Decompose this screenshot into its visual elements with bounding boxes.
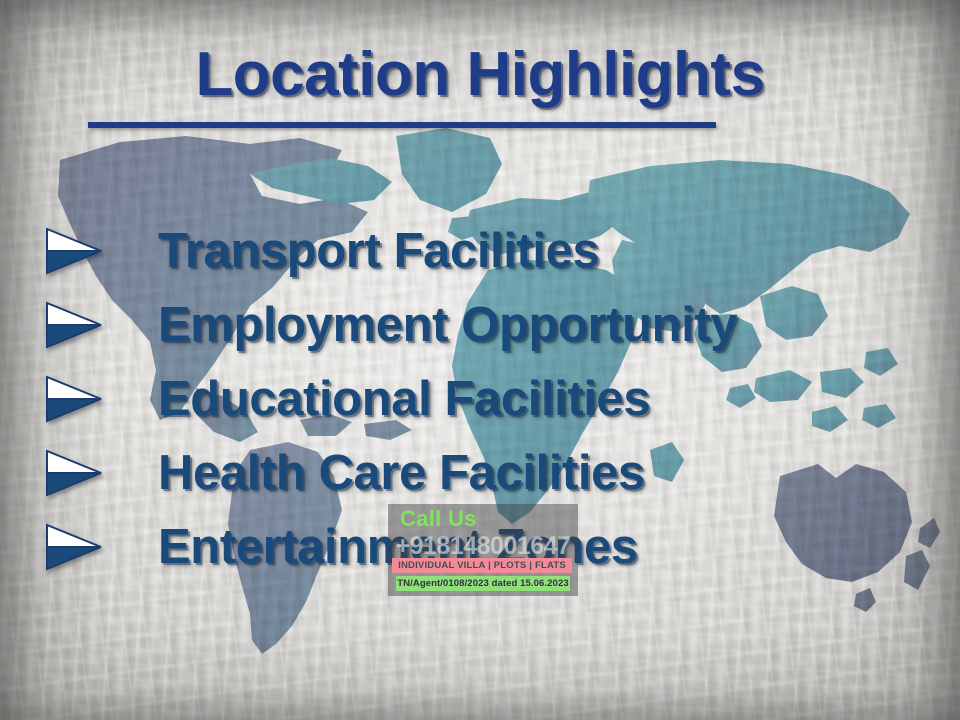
- list-item: Employment Opportunity: [44, 288, 944, 362]
- watermark-license-id: TN/Agent/0108/2023 dated 15.06.2023: [396, 576, 570, 591]
- list-item-label: Transport Facilities: [158, 227, 599, 276]
- list-item: Health Care Facilities: [44, 436, 944, 510]
- contact-watermark: Call Us +918148001647 INDIVIDUAL VILLA |…: [388, 504, 578, 596]
- list-item-label: Health Care Facilities: [158, 449, 645, 498]
- list-item: Educational Facilities: [44, 362, 944, 436]
- list-item: Transport Facilities: [44, 214, 944, 288]
- slide-canvas: Location Highlights Transport Facilities…: [0, 0, 960, 720]
- list-item-label: Educational Facilities: [158, 375, 650, 424]
- page-title: Location Highlights: [195, 44, 764, 106]
- watermark-call-us-label: Call Us: [400, 506, 477, 532]
- watermark-property-tags: INDIVIDUAL VILLA | PLOTS | FLATS: [392, 558, 572, 573]
- arrowhead-bullet-icon: [44, 521, 104, 573]
- watermark-phone-number: +918148001647: [388, 532, 578, 561]
- list-item-label: Employment Opportunity: [158, 301, 737, 350]
- arrowhead-bullet-icon: [44, 225, 104, 277]
- arrowhead-bullet-icon: [44, 299, 104, 351]
- page-title-area: Location Highlights: [0, 44, 960, 106]
- title-underline: [88, 122, 716, 128]
- arrowhead-bullet-icon: [44, 447, 104, 499]
- arrowhead-bullet-icon: [44, 373, 104, 425]
